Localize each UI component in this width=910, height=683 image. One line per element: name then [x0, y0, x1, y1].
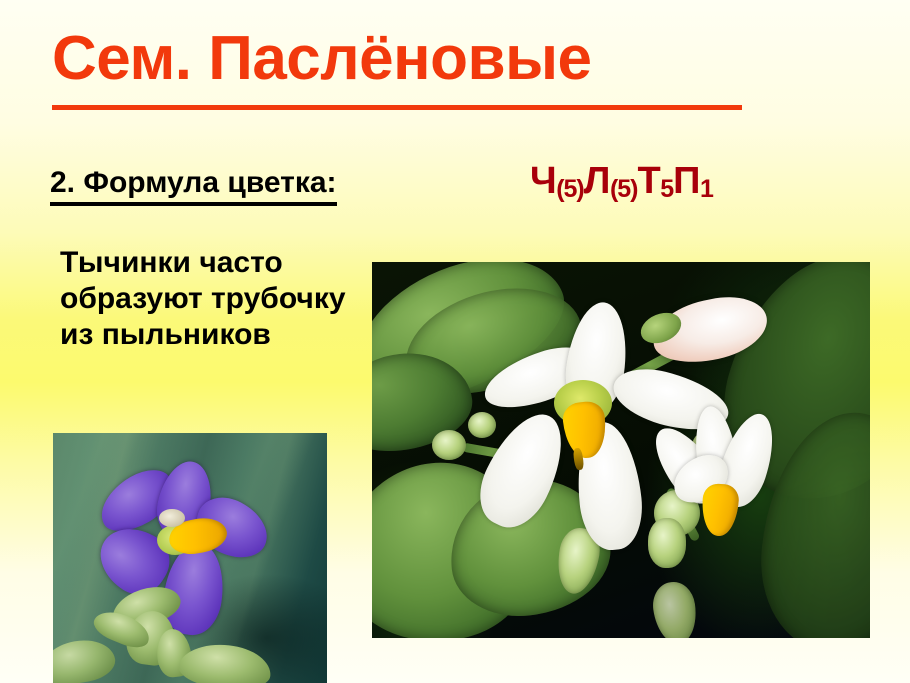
subtitle-label: 2. Формула цветка:	[50, 166, 337, 206]
flower-formula: Ч(5)Л(5)Т5П1	[530, 161, 713, 203]
purple-nightshade-flower-photo	[53, 433, 327, 683]
body-text: Тычинки часто образуют трубочку из пыльн…	[60, 245, 370, 353]
flower-bud	[432, 430, 466, 460]
stigma	[159, 509, 185, 527]
formula-sub-calyx: (5)	[556, 175, 584, 203]
formula-sub-pistil: 1	[700, 175, 713, 203]
page-title: Сем. Паслёновые	[52, 28, 752, 90]
white-nightshade-flower-photo	[372, 262, 870, 638]
formula-symbol-calyx: Ч	[530, 160, 556, 202]
flower-bud	[468, 412, 496, 438]
formula-sub-corolla: (5)	[610, 175, 638, 203]
formula-symbol-stamens: Т	[638, 160, 661, 202]
formula-sub-stamens: 5	[660, 175, 673, 203]
formula-symbol-pistil: П	[673, 160, 700, 202]
title-underline	[52, 105, 742, 110]
slide: Сем. Паслёновые 2. Формула цветка: Ч(5)Л…	[0, 0, 910, 683]
flower-bud	[648, 518, 686, 568]
formula-symbol-corolla: Л	[584, 160, 610, 202]
